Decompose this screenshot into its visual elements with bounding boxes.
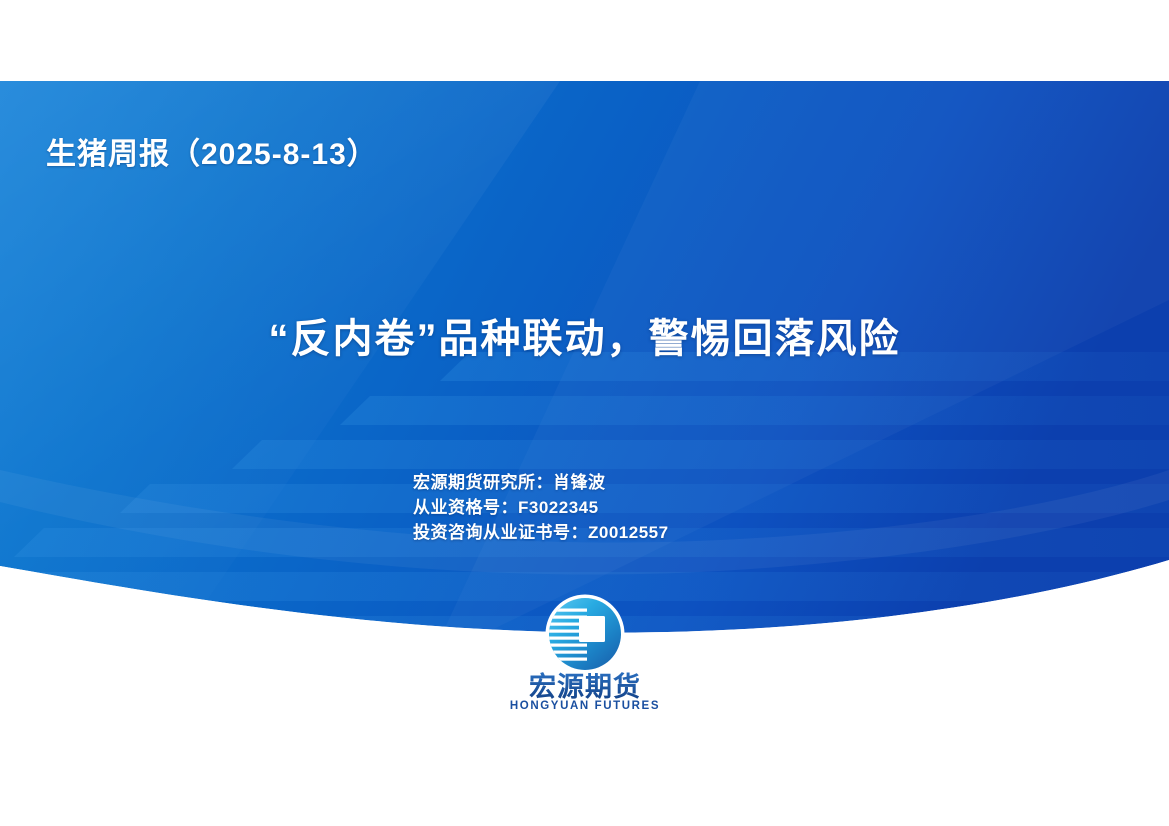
- logo-chinese-text: 宏源期货: [529, 672, 641, 702]
- logo-english-wordmark: HONGYUAN FUTURES: [493, 700, 677, 712]
- deck-title: 生猪周报（2025-8-13）: [46, 129, 378, 173]
- company-logo: 宏源期货 HONGYUAN FUTURES: [493, 594, 677, 718]
- author-block: 宏源期货研究所：肖锋波 从业资格号：F3022345 投资咨询从业证书号：Z00…: [413, 470, 669, 545]
- hongyuan-circle-mark-icon: [543, 594, 627, 678]
- logo-chinese-wordmark: 宏源期货: [493, 672, 677, 702]
- title-slide: 生猪周报（2025-8-13） “反内卷”品种联动，警惕回落风险 宏源期货研究所…: [0, 0, 1169, 826]
- author-qualification-line: 从业资格号：F3022345: [413, 495, 669, 520]
- author-consulting-certificate-line: 投资咨询从业证书号：Z0012557: [413, 520, 669, 545]
- main-title: “反内卷”品种联动，警惕回落风险: [0, 306, 1169, 364]
- author-institution-line: 宏源期货研究所：肖锋波: [413, 470, 669, 495]
